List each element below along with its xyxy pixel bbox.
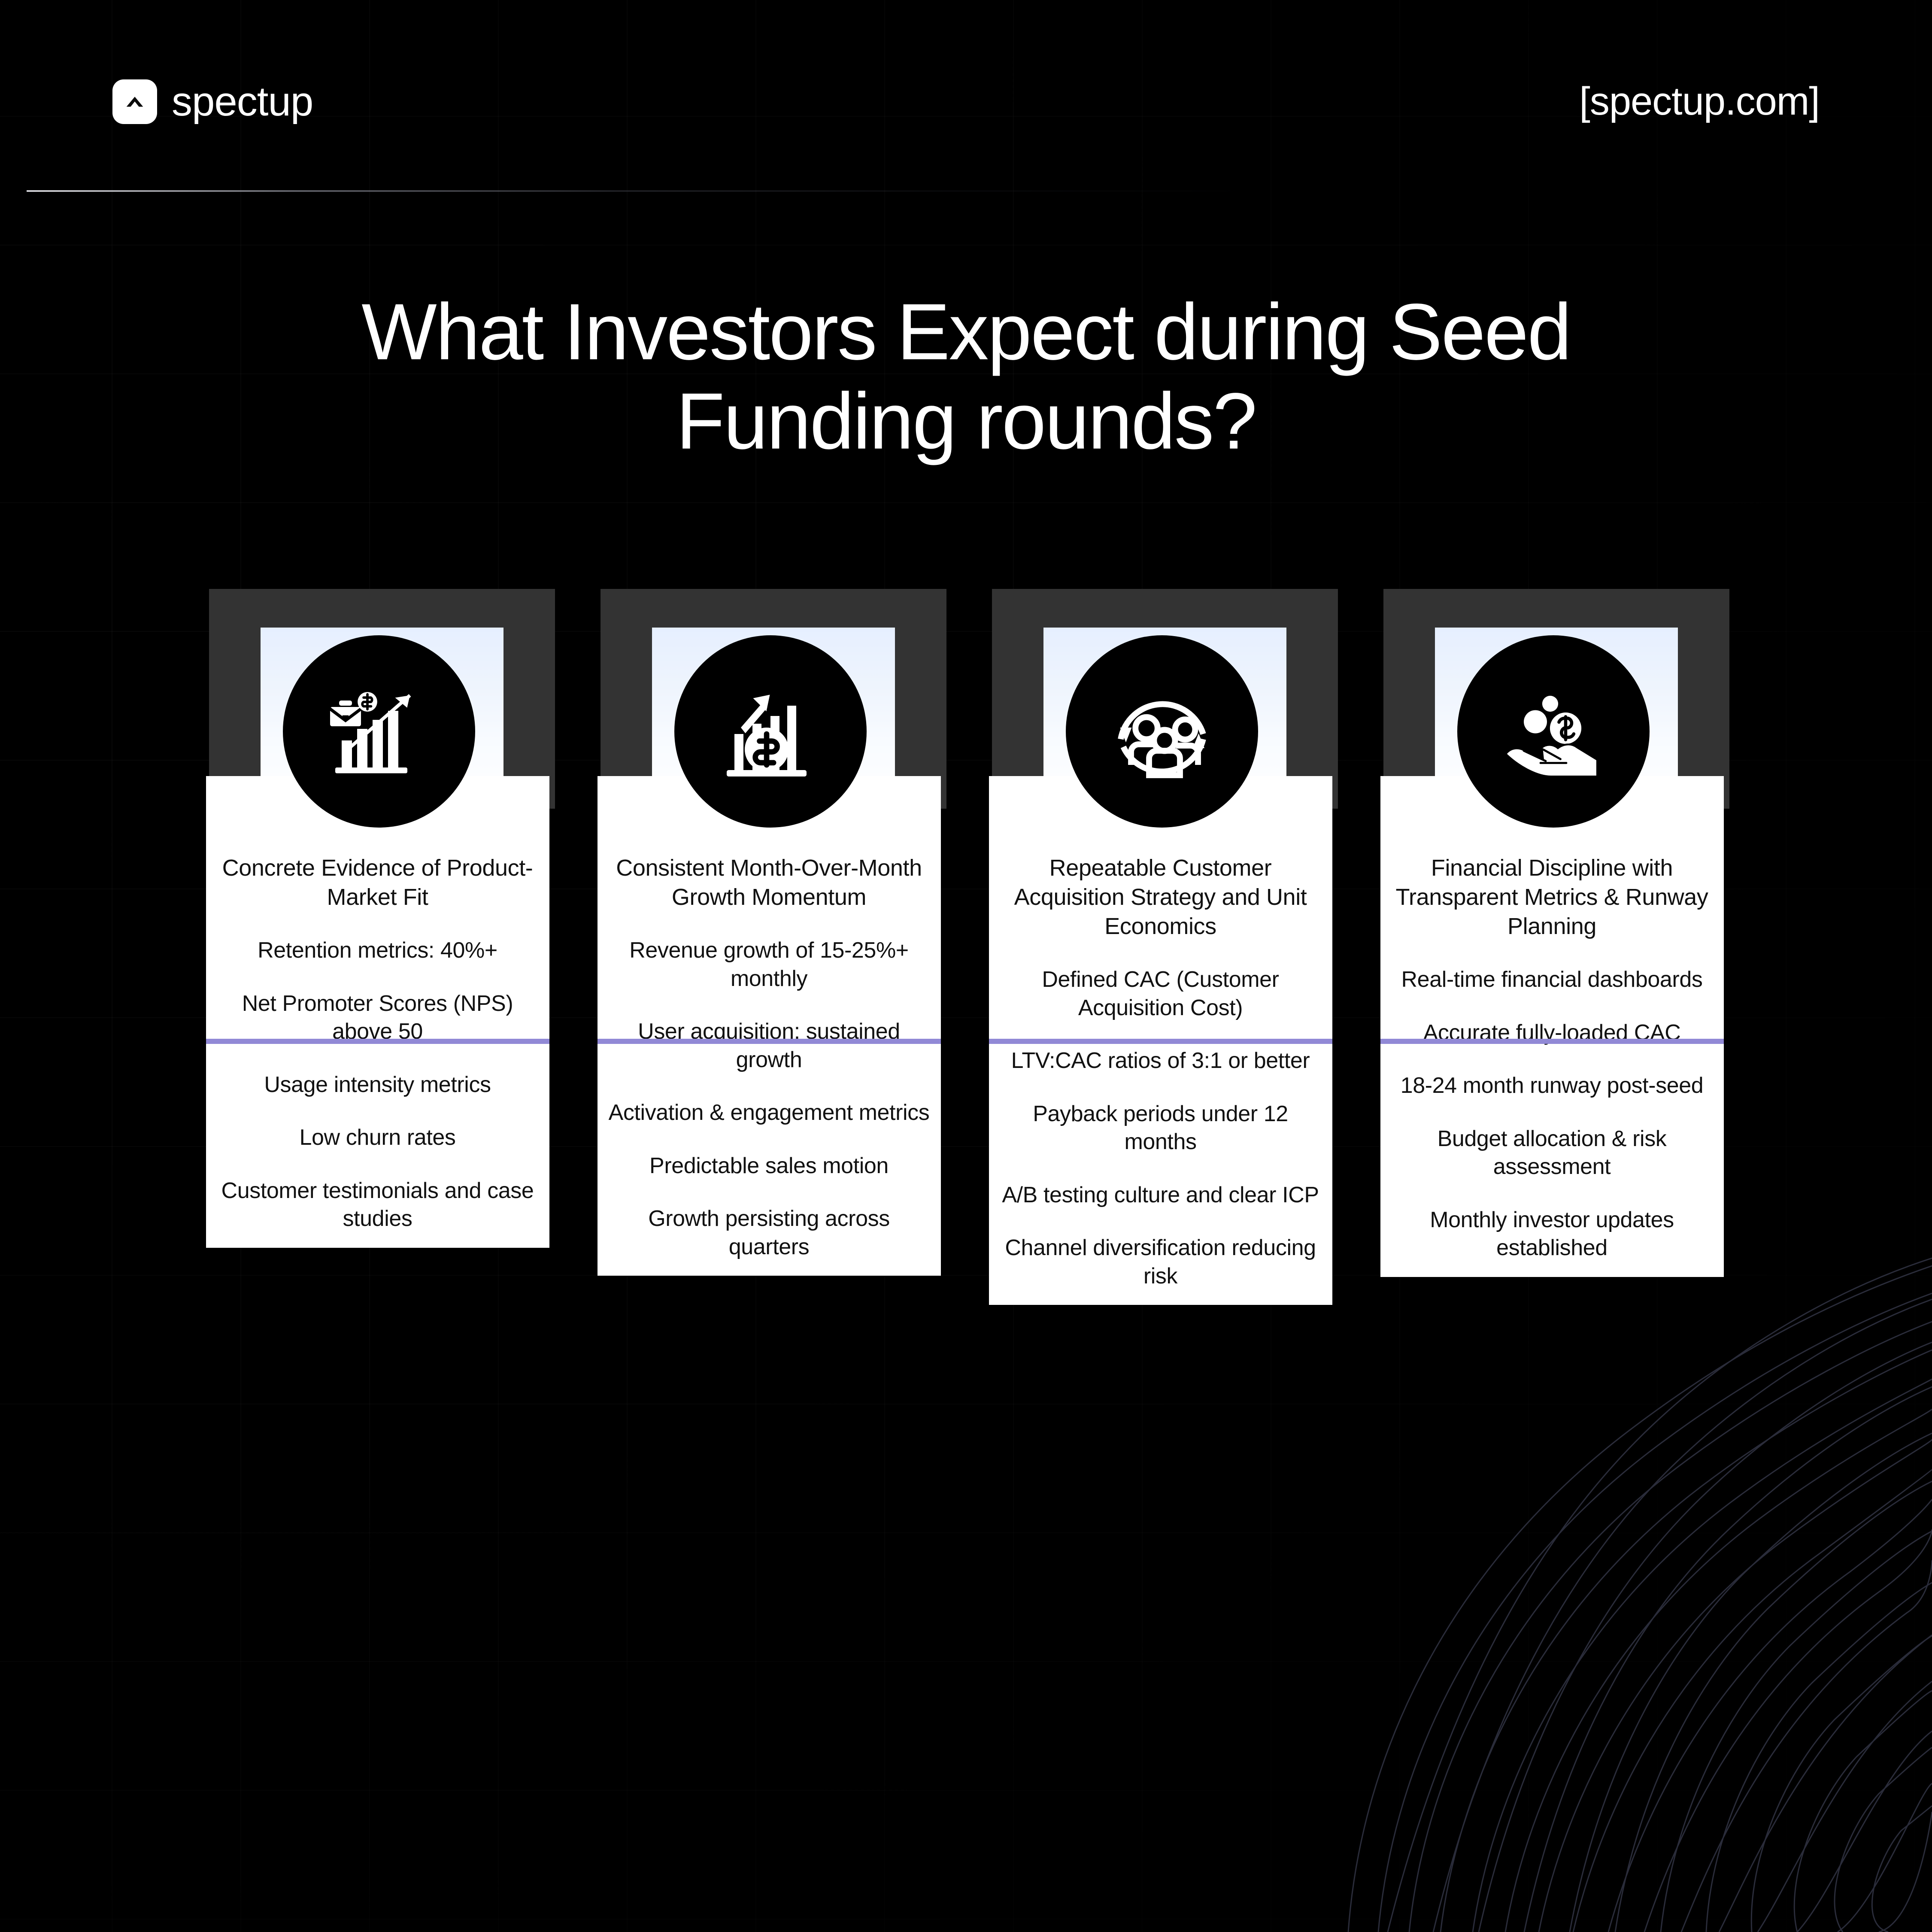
card-body: Financial Discipline with Transparent Me… (1380, 776, 1724, 1277)
card-heading: Repeatable Customer Acquisition Strategy… (989, 853, 1332, 941)
card-growth-momentum[interactable]: Consistent Month-Over-Month Growth Momen… (597, 589, 943, 1186)
list-item: User acquisition: sustained growth (597, 1018, 941, 1074)
card-accent-divider (1380, 1039, 1724, 1044)
card-customer-acquisition[interactable]: Repeatable Customer Acquisition Strategy… (989, 589, 1335, 1186)
card-heading: Consistent Month-Over-Month Growth Momen… (597, 853, 941, 912)
card-heading: Financial Discipline with Transparent Me… (1380, 853, 1724, 941)
chevron-up-icon (112, 79, 157, 124)
list-item: Customer testimonials and case studies (206, 1177, 549, 1233)
brand-name: spectup (172, 81, 313, 122)
list-item: Channel diversification reducing risk (989, 1234, 1332, 1290)
list-item: Usage intensity metrics (206, 1071, 549, 1099)
customer-group-cycle-icon (1066, 635, 1258, 828)
list-item: Activation & engagement metrics (597, 1099, 941, 1127)
card-points-list: Retention metrics: 40%+ Net Promoter Sco… (206, 937, 549, 1233)
card-product-market-fit[interactable]: Concrete Evidence of Product-Market Fit … (206, 589, 552, 1186)
brand-logo[interactable]: spectup (112, 79, 313, 124)
briefcase-dollar-growth-chart-icon (283, 635, 475, 828)
site-url-label[interactable]: [spectup.com] (1579, 82, 1820, 121)
card-financial-discipline[interactable]: Financial Discipline with Transparent Me… (1380, 589, 1726, 1186)
card-points-list: Defined CAC (Customer Acquisition Cost) … (989, 966, 1332, 1290)
card-points-list: Revenue growth of 15-25%+ monthly User a… (597, 937, 941, 1261)
card-accent-divider (206, 1039, 549, 1044)
list-item: Real-time financial dashboards (1380, 966, 1724, 994)
card-body: Consistent Month-Over-Month Growth Momen… (597, 776, 941, 1276)
hand-holding-coins-icon (1457, 635, 1650, 828)
header-divider (27, 190, 1254, 192)
list-item: Defined CAC (Customer Acquisition Cost) (989, 966, 1332, 1022)
card-body: Concrete Evidence of Product-Market Fit … (206, 776, 549, 1248)
list-item: LTV:CAC ratios of 3:1 or better (989, 1047, 1332, 1075)
list-item: Net Promoter Scores (NPS) above 50 (206, 990, 549, 1046)
background-wireframe-mesh (1310, 1245, 1932, 1932)
list-item: A/B testing culture and clear ICP (989, 1181, 1332, 1210)
bar-chart-dollar-arrow-up-icon (674, 635, 867, 828)
list-item: 18-24 month runway post-seed (1380, 1072, 1724, 1100)
list-item: Payback periods under 12 months (989, 1100, 1332, 1156)
card-heading: Concrete Evidence of Product-Market Fit (206, 853, 549, 912)
page-header: spectup [spectup.com] (0, 0, 1932, 180)
list-item: Predictable sales motion (597, 1152, 941, 1180)
list-item: Growth persisting across quarters (597, 1205, 941, 1261)
list-item: Retention metrics: 40%+ (206, 937, 549, 965)
cards-row: Concrete Evidence of Product-Market Fit … (0, 589, 1932, 1186)
list-item: Monthly investor updates established (1380, 1206, 1724, 1262)
card-body: Repeatable Customer Acquisition Strategy… (989, 776, 1332, 1305)
page-title: What Investors Expect during Seed Fundin… (0, 288, 1932, 467)
list-item: Low churn rates (206, 1124, 549, 1152)
list-item: Budget allocation & risk assessment (1380, 1125, 1724, 1181)
card-accent-divider (597, 1039, 941, 1044)
card-accent-divider (989, 1039, 1332, 1044)
card-points-list: Real-time financial dashboards Accurate … (1380, 966, 1724, 1262)
list-item: Revenue growth of 15-25%+ monthly (597, 937, 941, 993)
